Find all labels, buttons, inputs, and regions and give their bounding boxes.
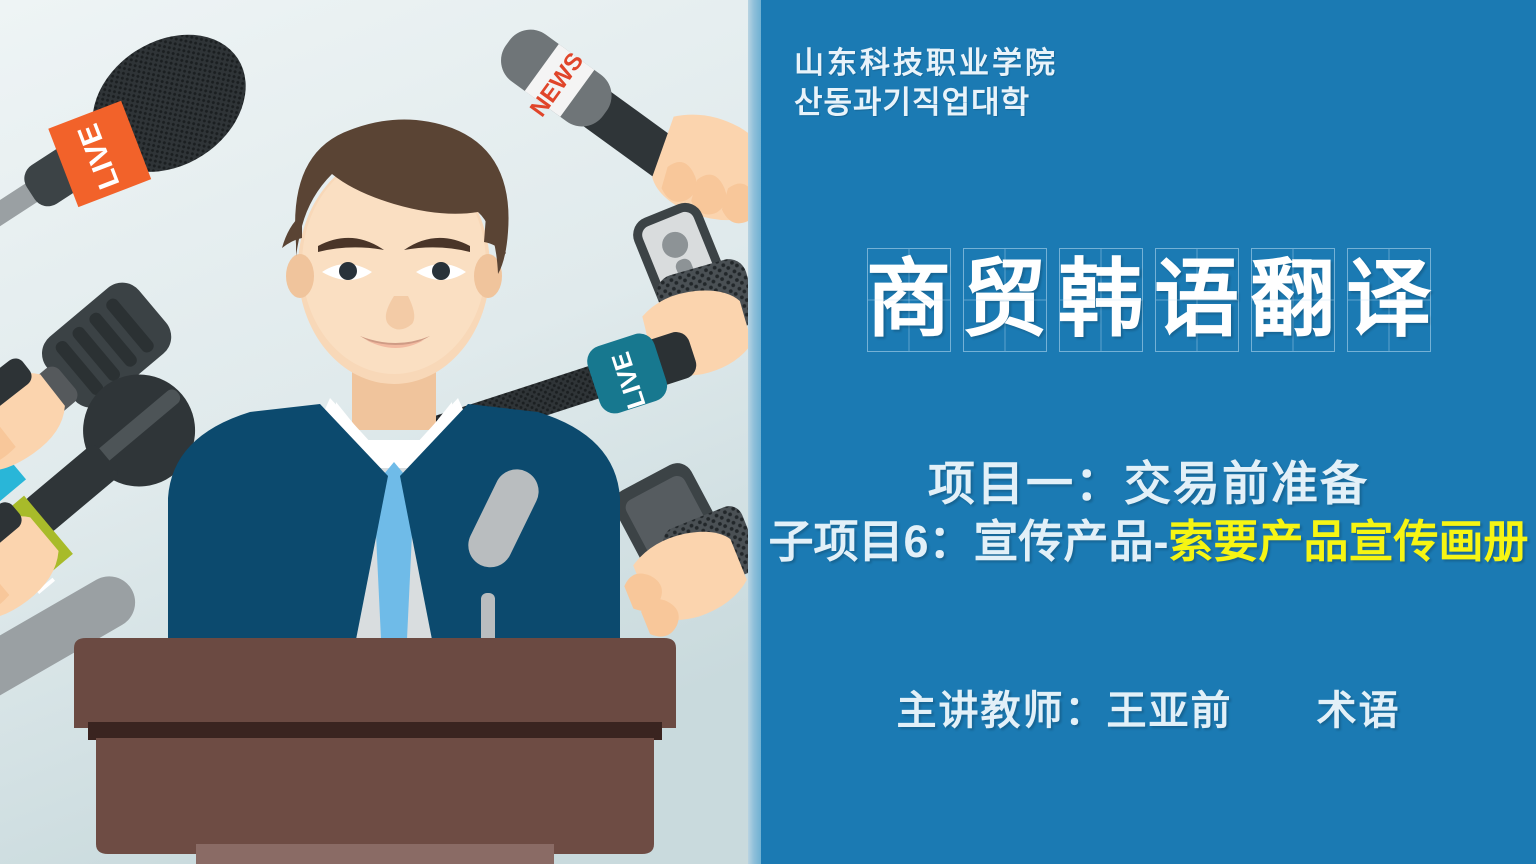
school-name-cn: 山东科技职业学院	[794, 44, 1494, 83]
subproject-line: 子项目6：宣传产品-索要产品宣传画册	[761, 514, 1536, 570]
podium	[74, 638, 676, 864]
title-char-text: 贸	[962, 258, 1047, 343]
instructor-line: 主讲教师：王亚前 术语	[761, 678, 1536, 736]
project-subtitle: 项目一：交易前准备 子项目6：宣传产品-索要产品宣传画册	[761, 455, 1536, 570]
presentation-slide: LIVE TV	[0, 0, 1536, 864]
speaker-illustration: LIVE TV	[0, 0, 748, 864]
title-grid-char: 语	[1155, 248, 1239, 352]
course-title: 商 贸 韩 语 翻 译	[761, 248, 1536, 352]
title-grid-char: 韩	[1059, 248, 1143, 352]
title-char-text: 韩	[1058, 258, 1143, 343]
title-char-text: 语	[1154, 258, 1239, 343]
title-char-text: 翻	[1250, 258, 1335, 343]
title-grid-char: 贸	[963, 248, 1047, 352]
subproject-highlight: 索要产品宣传画册	[1169, 516, 1529, 567]
school-name-kr: 산동과기직업대학	[794, 83, 1494, 123]
panel-separator-stripe	[748, 0, 761, 864]
title-grid-char: 商	[867, 248, 951, 352]
title-char-text: 译	[1346, 258, 1431, 343]
project-line: 项目一：交易前准备	[761, 455, 1536, 514]
subproject-prefix: 子项目6：宣传产品-	[768, 516, 1168, 567]
title-char-text: 商	[866, 258, 951, 343]
illustration-svg: LIVE TV	[0, 0, 748, 864]
title-grid-char: 翻	[1251, 248, 1335, 352]
title-grid-char: 译	[1347, 248, 1431, 352]
title-panel: 山东科技职业学院 산동과기직업대학 商 贸 韩 语 翻 译 项目一：交易前准备 …	[761, 0, 1536, 864]
school-name-block: 山东科技职业学院 산동과기직업대학	[794, 44, 1494, 123]
